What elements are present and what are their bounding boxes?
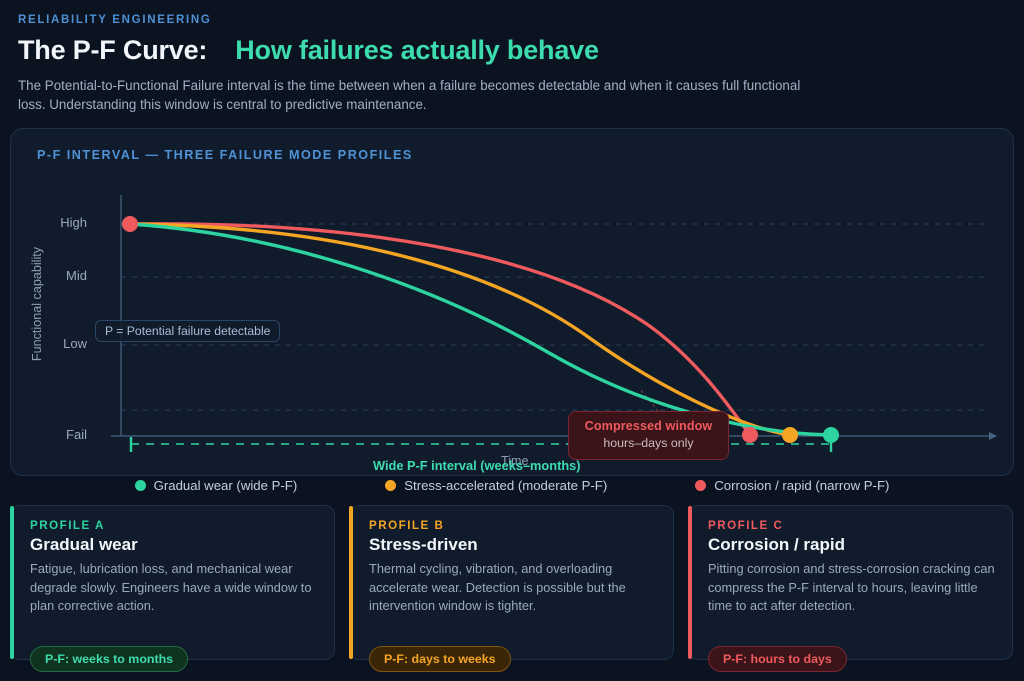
legend-dot-icon <box>695 480 706 491</box>
legend-label: Gradual wear (wide P-F) <box>154 478 298 493</box>
legend-dot-icon <box>135 480 146 491</box>
compressed-window-callout: Compressed window hours–days only <box>568 411 729 460</box>
legend-label: Stress-accelerated (moderate P-F) <box>404 478 607 493</box>
callout-title: Compressed window <box>579 419 718 433</box>
x-axis-arrow-icon <box>989 432 997 440</box>
p-point-marker <box>122 216 138 232</box>
end-marker-corrosion <box>742 427 758 443</box>
card-accent-bar <box>10 506 14 659</box>
card-body: Fatigue, lubrication loss, and mechanica… <box>30 560 318 616</box>
page-subtitle: The Potential-to-Functional Failure inte… <box>18 76 808 114</box>
pf-curve-plot <box>11 129 1015 477</box>
card-title: Stress-driven <box>369 535 657 555</box>
page-header: RELIABILITY ENGINEERING The P-F Curve: H… <box>0 0 1024 114</box>
profile-cards: PROFILE A Gradual wear Fatigue, lubricat… <box>10 505 1014 660</box>
legend-item-stress-accelerated[interactable]: Stress-accelerated (moderate P-F) <box>385 478 607 493</box>
card-badge: P-F: hours to days <box>708 646 847 672</box>
card-kicker: PROFILE A <box>30 519 318 532</box>
legend-item-corrosion-rapid[interactable]: Corrosion / rapid (narrow P-F) <box>695 478 889 493</box>
legend-label: Corrosion / rapid (narrow P-F) <box>714 478 889 493</box>
card-body: Pitting corrosion and stress-corrosion c… <box>708 560 996 616</box>
profile-card-a[interactable]: PROFILE A Gradual wear Fatigue, lubricat… <box>10 505 335 660</box>
annotation-p-point: P = Potential failure detectable <box>95 320 280 342</box>
title-main: The P-F Curve: <box>18 35 207 66</box>
page-title: The P-F Curve: How failures actually beh… <box>18 35 1006 66</box>
eyebrow-label: RELIABILITY ENGINEERING <box>18 14 1006 26</box>
end-marker-stress <box>782 427 798 443</box>
callout-subtitle: hours–days only <box>579 436 718 450</box>
card-body: Thermal cycling, vibration, and overload… <box>369 560 657 616</box>
pf-interval-label: Wide P-F interval (weeks–months) <box>373 458 581 473</box>
title-accent: How failures actually behave <box>235 35 599 66</box>
card-title: Gradual wear <box>30 535 318 555</box>
legend-dot-icon <box>385 480 396 491</box>
card-accent-bar <box>688 506 692 659</box>
legend-item-gradual-wear[interactable]: Gradual wear (wide P-F) <box>135 478 298 493</box>
chart-panel: P-F INTERVAL — THREE FAILURE MODE PROFIL… <box>10 128 1014 476</box>
card-kicker: PROFILE B <box>369 519 657 532</box>
card-badge: P-F: days to weeks <box>369 646 511 672</box>
profile-card-b[interactable]: PROFILE B Stress-driven Thermal cycling,… <box>349 505 674 660</box>
card-kicker: PROFILE C <box>708 519 996 532</box>
card-title: Corrosion / rapid <box>708 535 996 555</box>
card-badge: P-F: weeks to months <box>30 646 188 672</box>
profile-card-c[interactable]: PROFILE C Corrosion / rapid Pitting corr… <box>688 505 1013 660</box>
card-accent-bar <box>349 506 353 659</box>
chart-legend: Gradual wear (wide P-F) Stress-accelerat… <box>10 478 1014 493</box>
